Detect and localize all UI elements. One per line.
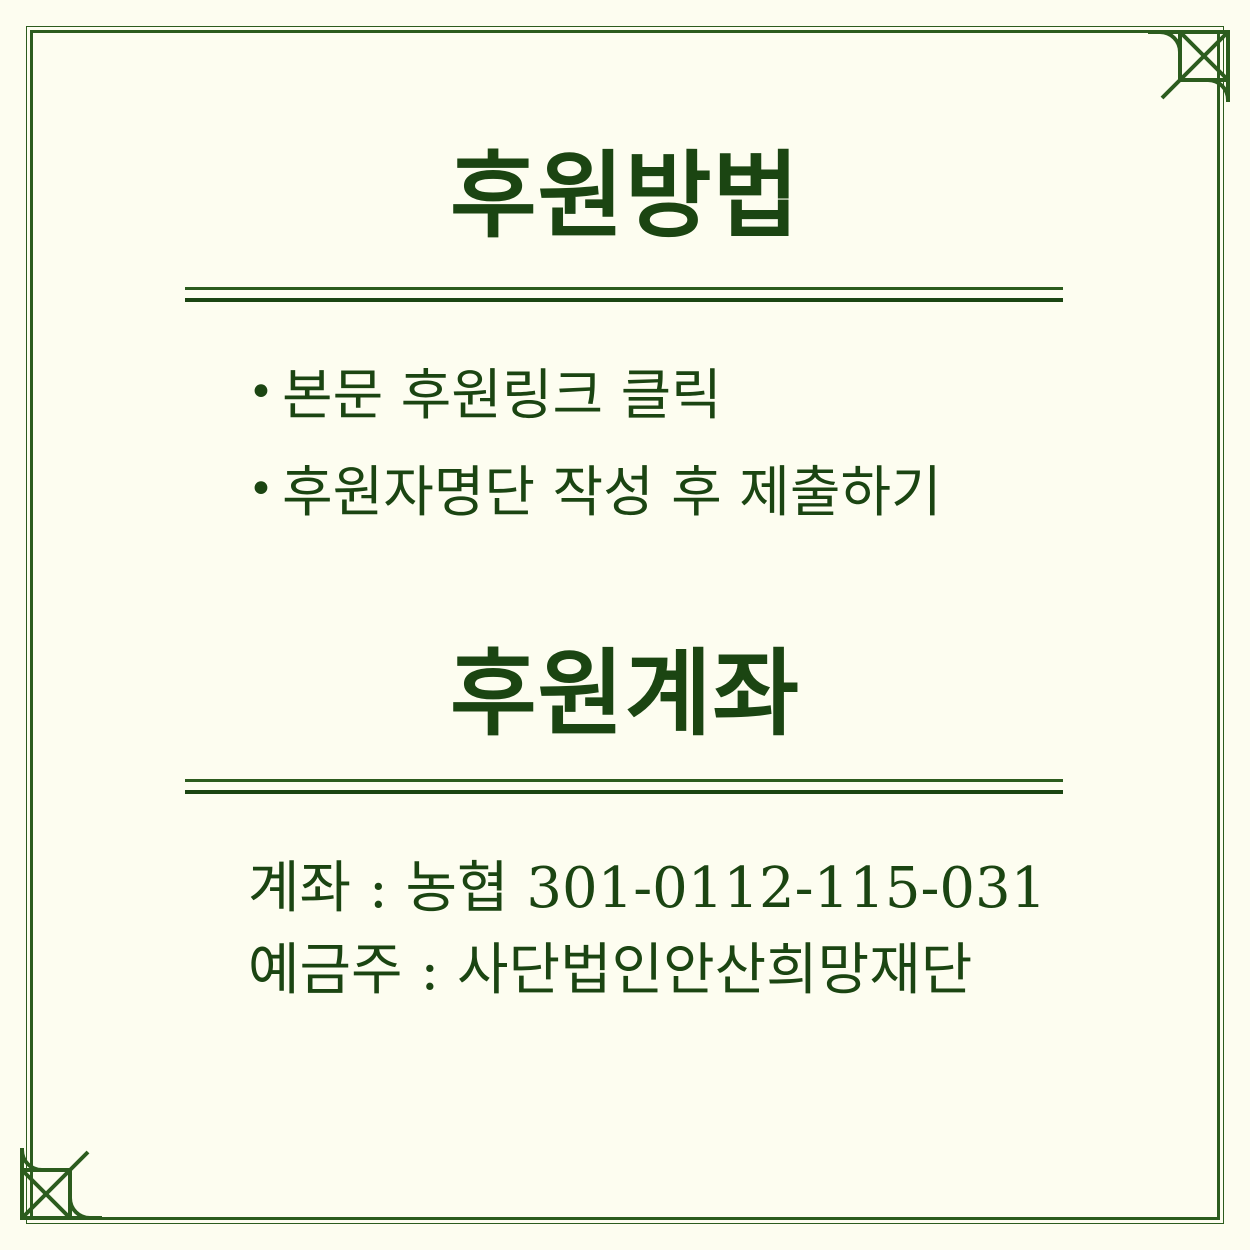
- divider-rule-thin: [185, 287, 1063, 290]
- account-number-line: 계좌 : 농협 301-0112-115-031: [248, 848, 1198, 930]
- list-item: • 후원자명단 작성 후 제출하기: [248, 465, 1148, 520]
- account-details: 계좌 : 농협 301-0112-115-031 예금주 : 사단법인안산희망재…: [248, 848, 1198, 1012]
- donation-method-list: • 본문 후원링크 클릭 • 후원자명단 작성 후 제출하기: [248, 368, 1148, 562]
- divider-rule-thick: [185, 298, 1063, 302]
- list-item-label: 본문 후원링크 클릭: [282, 368, 1148, 423]
- account-holder-line: 예금주 : 사단법인안산희망재단: [248, 930, 1198, 1012]
- heading-donation-account: 후원계좌: [0, 645, 1250, 744]
- list-item: • 본문 후원링크 클릭: [248, 368, 1148, 423]
- poster-content: 후원방법 • 본문 후원링크 클릭 • 후원자명단 작성 후 제출하기 후원계좌…: [0, 0, 1250, 1250]
- bullet-dot-icon: •: [248, 368, 282, 419]
- divider-under-method-heading: [185, 287, 1063, 301]
- divider-under-account-heading: [185, 779, 1063, 793]
- list-item-label: 후원자명단 작성 후 제출하기: [282, 465, 1148, 520]
- divider-rule-thin: [185, 779, 1063, 782]
- bullet-dot-icon: •: [248, 465, 282, 516]
- heading-donation-method: 후원방법: [0, 147, 1250, 246]
- donation-poster: 후원방법 • 본문 후원링크 클릭 • 후원자명단 작성 후 제출하기 후원계좌…: [0, 0, 1250, 1250]
- divider-rule-thick: [185, 790, 1063, 794]
